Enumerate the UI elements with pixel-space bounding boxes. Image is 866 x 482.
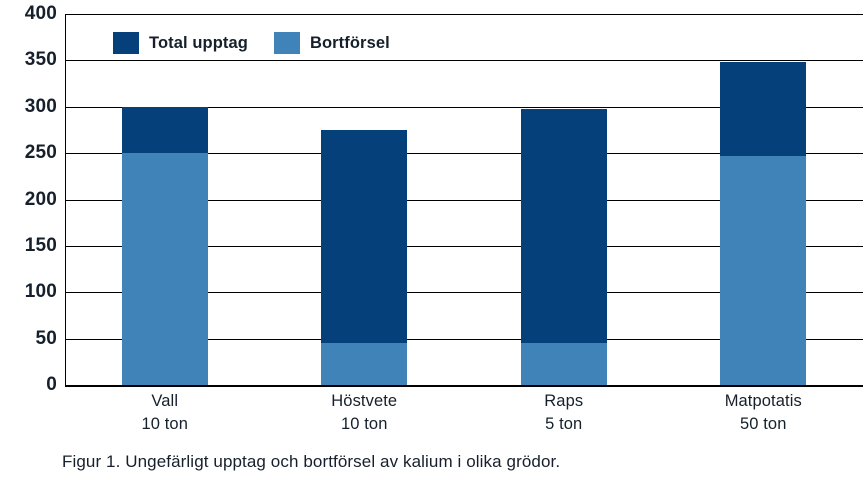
x-tick-label-sublabel: 50 ton [664, 413, 864, 436]
legend-label-total-upptag: Total upptag [149, 34, 248, 53]
stacked-bar[interactable] [122, 107, 208, 385]
stacked-bar[interactable] [521, 109, 607, 385]
x-tick-label-group: Höstvete10 ton [265, 390, 465, 436]
figure-caption: Figur 1. Ungefärligt upptag och bortförs… [62, 452, 560, 472]
x-tick-label-sublabel: 10 ton [265, 413, 465, 436]
legend-item-bortforsel: Bortförsel [274, 32, 390, 54]
x-tick-label-name: Matpotatis [664, 390, 864, 413]
bar-segment-bortforsel[interactable] [720, 156, 806, 385]
legend-swatch-bortforsel [274, 32, 300, 54]
bar-slot [664, 14, 864, 385]
bar-slot [265, 14, 465, 385]
legend-swatch-total-upptag [113, 32, 139, 54]
y-tick-label: 400 [3, 3, 57, 25]
bar-slot [65, 14, 265, 385]
y-axis-labels: 400350300250200150100500 [0, 14, 57, 385]
y-tick-label: 350 [3, 49, 57, 71]
bar-segment-total-upptag[interactable] [720, 62, 806, 156]
x-tick-label-name: Vall [65, 390, 265, 413]
bar-segment-total-upptag[interactable] [521, 109, 607, 344]
x-tick-label-name: Raps [464, 390, 664, 413]
y-tick-label: 200 [3, 189, 57, 211]
x-tick-label-group: Vall10 ton [65, 390, 265, 436]
y-tick-label: 100 [3, 281, 57, 303]
x-axis-labels: Vall10 tonHöstvete10 tonRaps5 tonMatpota… [65, 390, 863, 436]
x-tick-label-group: Matpotatis50 ton [664, 390, 864, 436]
x-axis-baseline [65, 385, 863, 387]
y-tick-label: 50 [3, 328, 57, 350]
bar-segment-total-upptag[interactable] [122, 107, 208, 153]
bar-slot [464, 14, 664, 385]
bar-segment-bortforsel[interactable] [122, 153, 208, 385]
bar-segment-bortforsel[interactable] [321, 343, 407, 385]
bar-segment-bortforsel[interactable] [521, 343, 607, 385]
x-tick-label-name: Höstvete [265, 390, 465, 413]
x-tick-label-group: Raps5 ton [464, 390, 664, 436]
stacked-bar[interactable] [321, 130, 407, 385]
legend-label-bortforsel: Bortförsel [310, 34, 390, 53]
bar-group [65, 14, 863, 385]
bar-segment-total-upptag[interactable] [321, 130, 407, 343]
x-tick-label-sublabel: 5 ton [464, 413, 664, 436]
figure-container: 400350300250200150100500 Total upptag Bo… [0, 0, 866, 482]
y-tick-label: 150 [3, 235, 57, 257]
stacked-bar[interactable] [720, 62, 806, 385]
y-tick-label: 0 [3, 374, 57, 396]
y-tick-label: 300 [3, 96, 57, 118]
legend-item-total-upptag: Total upptag [113, 32, 248, 54]
chart-legend: Total upptag Bortförsel [113, 32, 390, 54]
x-tick-label-sublabel: 10 ton [65, 413, 265, 436]
y-tick-label: 250 [3, 142, 57, 164]
